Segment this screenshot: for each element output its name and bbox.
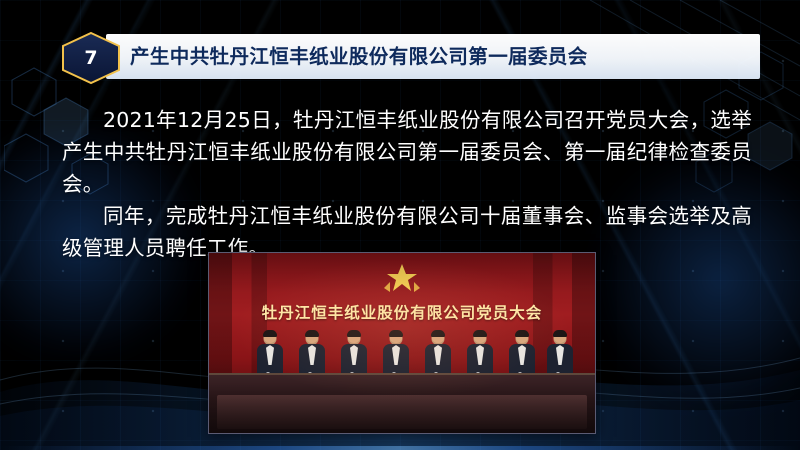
slide-body-text: 2021年12月25日，牡丹江恒丰纸业股份有限公司召开党员大会，选举产生中共牡丹… bbox=[62, 104, 752, 264]
footer-accent-bar bbox=[0, 446, 800, 450]
slide-root: 7 产生中共牡丹江恒丰纸业股份有限公司第一届委员会 2021年12月25日，牡丹… bbox=[0, 0, 800, 450]
photo-vignette bbox=[209, 253, 595, 433]
paragraph-1: 2021年12月25日，牡丹江恒丰纸业股份有限公司召开党员大会，选举产生中共牡丹… bbox=[62, 104, 752, 200]
slide-title-bar: 7 产生中共牡丹江恒丰纸业股份有限公司第一届委员会 bbox=[60, 34, 760, 79]
conference-photo-inner: 牡丹江恒丰纸业股份有限公司党员大会 bbox=[209, 253, 595, 433]
slide-number-badge: 7 bbox=[60, 31, 122, 85]
page-title: 产生中共牡丹江恒丰纸业股份有限公司第一届委员会 bbox=[130, 34, 588, 79]
conference-photo: 牡丹江恒丰纸业股份有限公司党员大会 bbox=[208, 252, 596, 434]
